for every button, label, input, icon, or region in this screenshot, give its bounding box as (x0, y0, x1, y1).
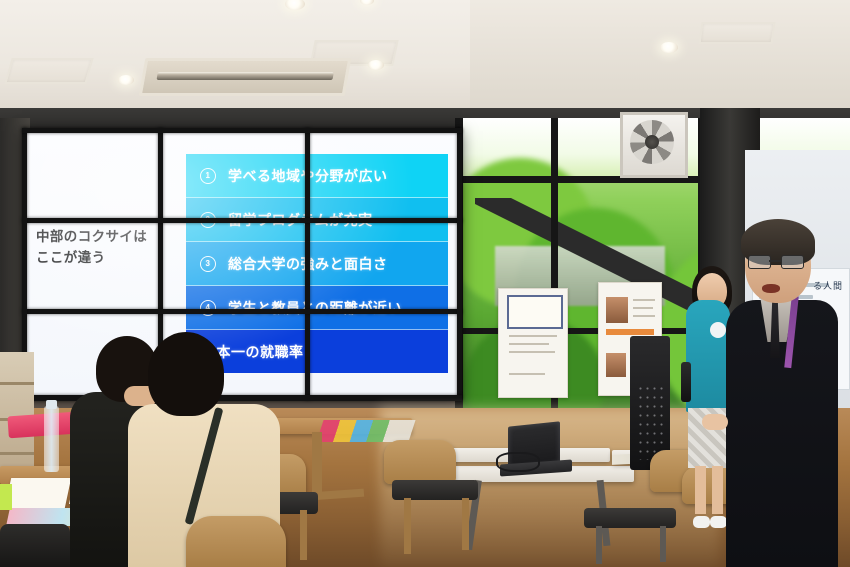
photo-scene: る人間 中部のコクサイは ここが違う 1 学 (0, 0, 850, 567)
slide-row-text: 学生と教員との距離が近い (228, 298, 402, 318)
chair-leg (404, 498, 411, 554)
chair-back (186, 516, 286, 567)
ceiling-right (470, 0, 850, 118)
table-leg (312, 432, 322, 498)
speaker-grille-icon (637, 384, 663, 460)
presenter-mouth (762, 284, 780, 293)
chair-leg (660, 526, 666, 562)
chair-leg (300, 510, 307, 560)
poster-board-left (498, 288, 568, 398)
chair-seat (392, 480, 478, 500)
glasses-icon (748, 255, 802, 267)
bottle-cap (46, 400, 57, 409)
poster-highlight (606, 329, 654, 335)
chair-leg (596, 526, 602, 564)
slide-bullet-list: 1 学べる地域や分野が広い 2 留学プログラムが充実 3 総合大学の強みと面白さ… (186, 154, 448, 373)
attendee-head (148, 332, 224, 416)
video-wall-bezel (22, 218, 462, 223)
window-mullion (551, 118, 558, 448)
slide-title: 中部のコクサイは ここが違う (36, 227, 186, 269)
wall-poster-text: る人間 (813, 279, 843, 292)
leaflets (316, 420, 415, 442)
student-staff-legs (695, 466, 725, 528)
slide-row: 日本一の就職率 (186, 330, 448, 373)
ceiling-downlight (368, 60, 384, 70)
wall-fan (620, 112, 688, 178)
slide-row: 4 学生と教員との距離が近い (186, 286, 448, 330)
chair-leg (462, 498, 469, 550)
slide-row-number: 3 (200, 256, 216, 272)
ceiling-downlight (660, 42, 678, 53)
shelf-unit (0, 352, 34, 472)
video-wall-bezel (22, 128, 462, 133)
ceiling-access-panel (4, 58, 93, 84)
presenter-hand (702, 414, 728, 430)
slide-row: 1 学べる地域や分野が広い (186, 154, 448, 198)
microphone (681, 362, 691, 402)
fan-hub (645, 135, 659, 149)
water-bottle (44, 406, 59, 472)
chair-back (384, 440, 456, 484)
chair-seat (584, 508, 676, 528)
ceiling-downlight (118, 75, 134, 85)
brochure (5, 478, 71, 508)
marker (0, 484, 12, 510)
slide-row-number: 1 (200, 168, 216, 184)
video-wall-bezel (22, 309, 462, 314)
student-staff-body (686, 300, 730, 412)
ceiling-air-vent (139, 58, 352, 96)
presentation-slide: 中部のコクサイは ここが違う 1 学べる地域や分野が広い 2 留学プログラムが充… (26, 132, 458, 396)
video-wall-bezel (305, 128, 310, 400)
laptop-cable (496, 452, 540, 472)
staff-badge-icon (710, 322, 726, 338)
ceiling-access-panel (698, 22, 775, 44)
chair-back (0, 524, 70, 567)
video-wall-bezel (457, 128, 462, 400)
slide-row: 3 総合大学の強みと面白さ (186, 242, 448, 286)
